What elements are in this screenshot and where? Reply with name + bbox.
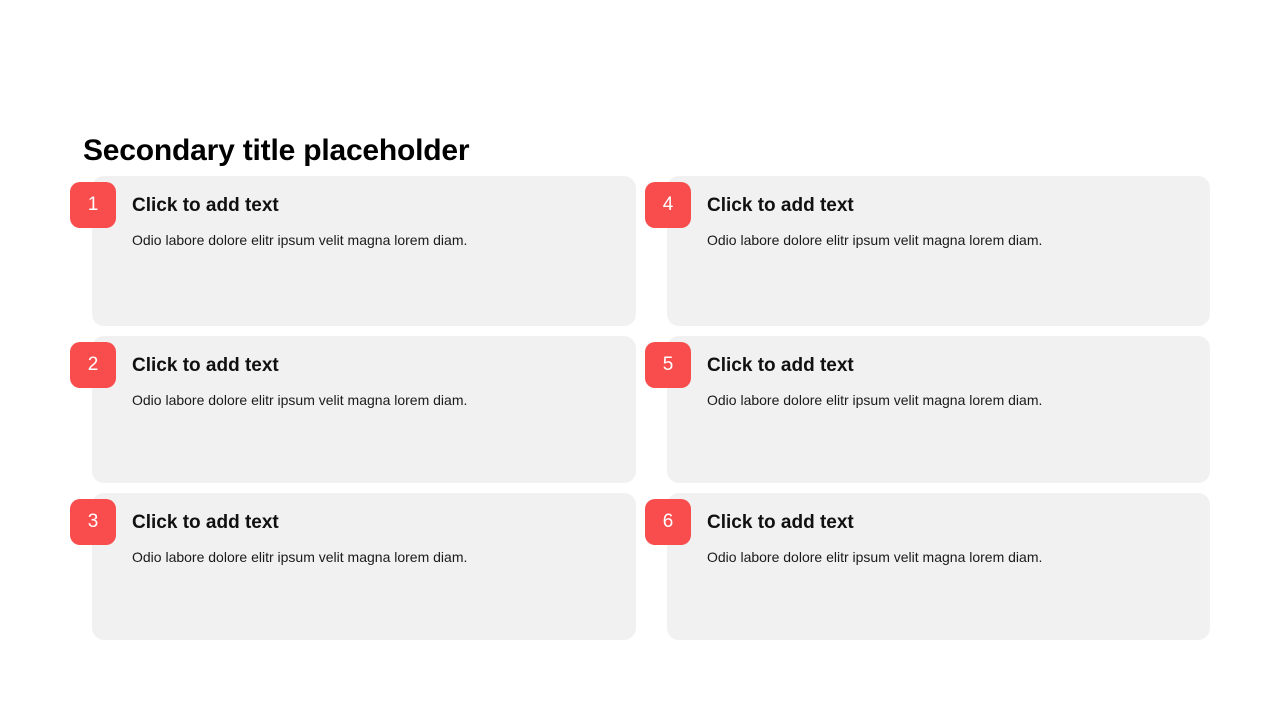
card-text[interactable]: Odio labore dolore elitr ipsum velit mag… <box>132 535 614 567</box>
card-heading[interactable]: Click to add text <box>707 194 1188 218</box>
content-card[interactable]: 3 Click to add text Odio labore dolore e… <box>92 493 636 640</box>
card-text[interactable]: Odio labore dolore elitr ipsum velit mag… <box>132 378 614 410</box>
card-number-badge: 5 <box>645 342 691 388</box>
card-body: Click to add text Odio labore dolore eli… <box>707 194 1188 250</box>
content-card[interactable]: 1 Click to add text Odio labore dolore e… <box>92 176 636 326</box>
page-title[interactable]: Secondary title placeholder <box>83 131 1183 171</box>
card-number-badge: 2 <box>70 342 116 388</box>
card-text[interactable]: Odio labore dolore elitr ipsum velit mag… <box>707 218 1188 250</box>
content-card[interactable]: 6 Click to add text Odio labore dolore e… <box>667 493 1210 640</box>
card-heading[interactable]: Click to add text <box>132 511 614 535</box>
card-number-badge: 6 <box>645 499 691 545</box>
card-number-badge: 3 <box>70 499 116 545</box>
content-card[interactable]: 4 Click to add text Odio labore dolore e… <box>667 176 1210 326</box>
card-body: Click to add text Odio labore dolore eli… <box>707 511 1188 567</box>
card-number-badge: 1 <box>70 182 116 228</box>
card-heading[interactable]: Click to add text <box>132 194 614 218</box>
card-body: Click to add text Odio labore dolore eli… <box>132 354 614 410</box>
card-heading[interactable]: Click to add text <box>132 354 614 378</box>
card-body: Click to add text Odio labore dolore eli… <box>132 194 614 250</box>
card-text[interactable]: Odio labore dolore elitr ipsum velit mag… <box>707 378 1188 410</box>
card-body: Click to add text Odio labore dolore eli… <box>707 354 1188 410</box>
slide-canvas: Secondary title placeholder 1 Click to a… <box>0 0 1280 720</box>
card-text[interactable]: Odio labore dolore elitr ipsum velit mag… <box>132 218 614 250</box>
card-heading[interactable]: Click to add text <box>707 354 1188 378</box>
card-number-badge: 4 <box>645 182 691 228</box>
card-text[interactable]: Odio labore dolore elitr ipsum velit mag… <box>707 535 1188 567</box>
card-body: Click to add text Odio labore dolore eli… <box>132 511 614 567</box>
content-card[interactable]: 2 Click to add text Odio labore dolore e… <box>92 336 636 483</box>
card-heading[interactable]: Click to add text <box>707 511 1188 535</box>
content-card[interactable]: 5 Click to add text Odio labore dolore e… <box>667 336 1210 483</box>
